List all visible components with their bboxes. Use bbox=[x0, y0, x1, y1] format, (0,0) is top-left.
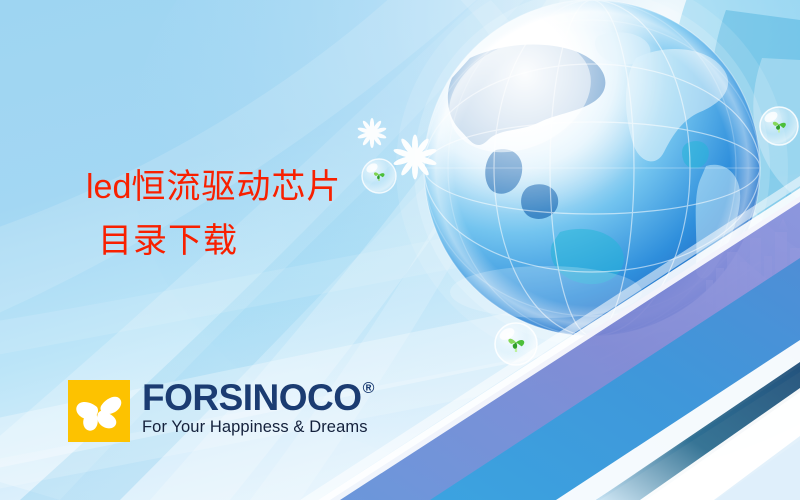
logo-wordmark: FORSINOCO® For Your Happiness & Dreams bbox=[142, 380, 374, 437]
bubble-windmill-top bbox=[362, 159, 396, 193]
brand-name: FORSINOCO® bbox=[142, 379, 374, 417]
bubble-windmill-right bbox=[760, 107, 798, 145]
brand-name-text: FORSINOCO bbox=[142, 379, 362, 417]
registered-trademark-icon: ® bbox=[363, 381, 374, 397]
company-logo[interactable]: FORSINOCO® For Your Happiness & Dreams bbox=[68, 380, 374, 442]
bubble-windmill-mid bbox=[495, 323, 537, 365]
brand-tagline: For Your Happiness & Dreams bbox=[142, 418, 374, 437]
forsinoco-pinwheel-mark bbox=[68, 380, 130, 442]
banner-canvas: led恒流驱动芯片 目录下载 FORSINOCO® For Your Happi… bbox=[0, 0, 800, 500]
